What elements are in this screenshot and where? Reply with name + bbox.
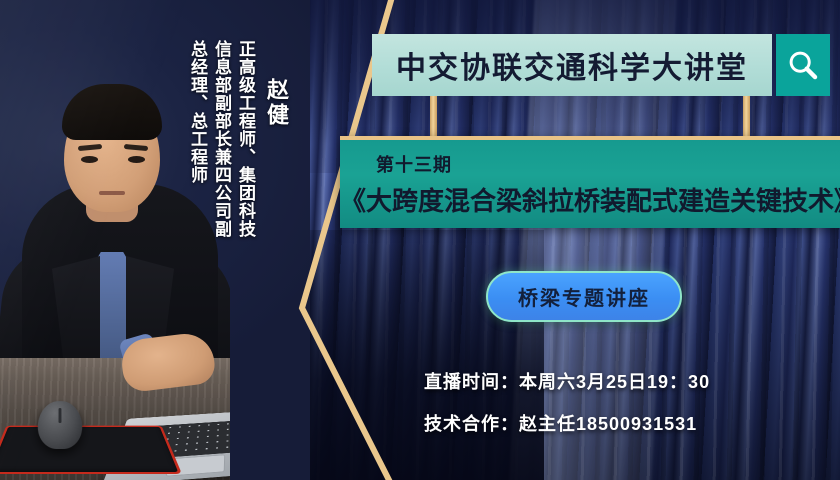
bottom-shadow-veil: [292, 230, 544, 480]
issue-number-text: 第十三期: [376, 151, 840, 177]
mouse-pad: [0, 426, 182, 474]
mouth: [99, 191, 125, 195]
lecture-title-banner: 第十三期 《大跨度混合梁斜拉桥装配式建造关键技术》: [340, 136, 840, 228]
speaker-credential-line-3: 总经理、总工程师: [185, 40, 210, 184]
speaker-panel: 总经理、总工程师 信息部副部长兼四公司副 正高级工程师、集团科技 赵健: [0, 0, 310, 480]
topic-pill-button[interactable]: 桥梁专题讲座: [486, 271, 682, 322]
program-title-text: 中交协联交通科学大讲堂: [396, 43, 748, 87]
eye-left: [81, 156, 98, 163]
lecture-title-text: 《大跨度混合梁斜拉桥装配式建造关键技术》: [340, 181, 840, 218]
sign-post-right: [743, 96, 750, 138]
speaker-name: 赵健: [260, 78, 292, 128]
contact-text: 技术合作：赵主任18500931531: [424, 410, 697, 436]
search-icon: [786, 48, 820, 82]
live-stream-poster: 总经理、总工程师 信息部副部长兼四公司副 正高级工程师、集团科技 赵健 中交协联…: [0, 0, 840, 480]
search-button[interactable]: [776, 34, 830, 96]
eye-right: [128, 156, 145, 163]
sign-post-left: [430, 96, 437, 138]
speaker-credential-line-2: 信息部副部长兼四公司副: [209, 40, 234, 238]
program-title-sign: 中交协联交通科学大讲堂: [372, 34, 772, 96]
speaker-credential-line-1: 正高级工程师、集团科技: [233, 40, 258, 238]
live-time-text: 直播时间：本周六3月25日19：30: [424, 368, 710, 394]
sign-support-posts: [430, 96, 750, 138]
hair: [62, 84, 162, 140]
